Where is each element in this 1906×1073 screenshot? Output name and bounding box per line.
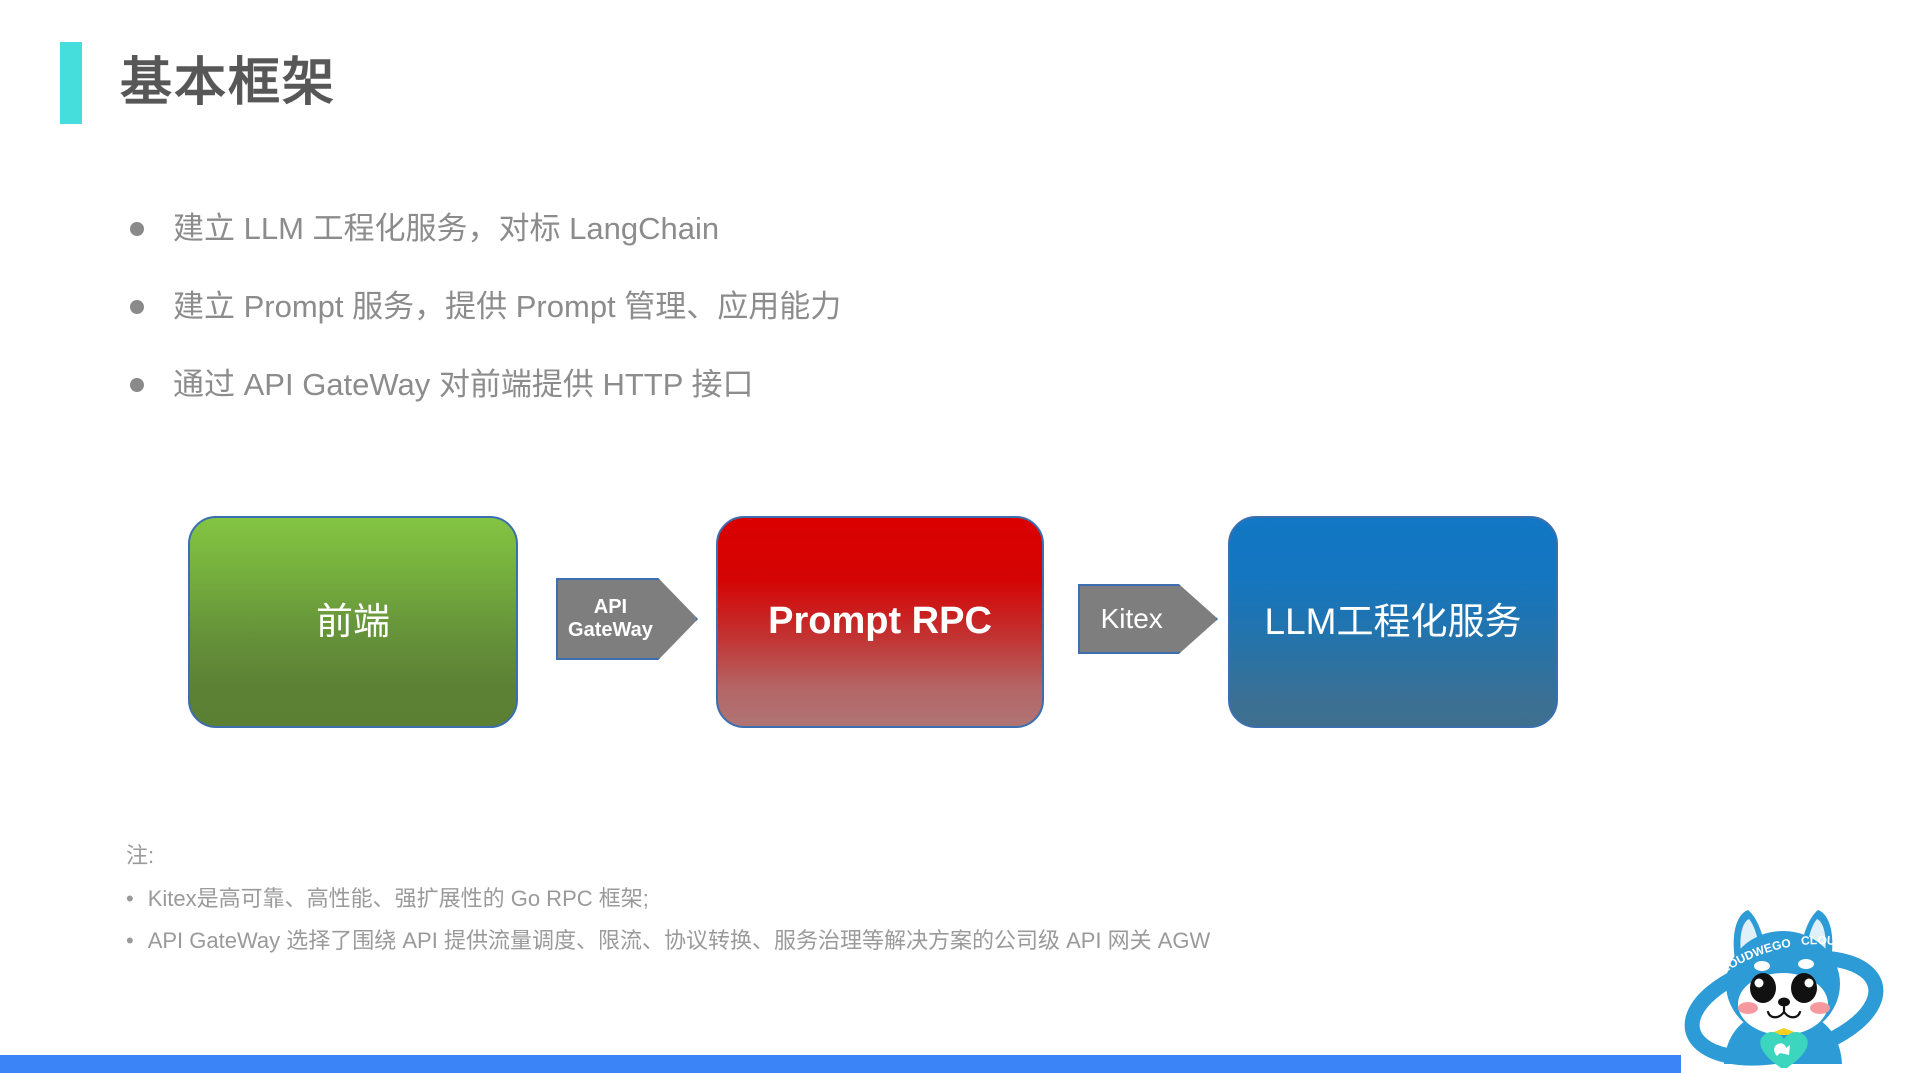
title-accent-bar (60, 42, 82, 124)
note-bullet-icon: • (126, 884, 134, 914)
mascot-eye-left (1750, 973, 1776, 1003)
mascot-nose (1778, 998, 1790, 1007)
mascot-eye-glint-right (1805, 979, 1814, 988)
diagram-node-prompt-rpc: Prompt RPC (716, 516, 1044, 728)
slide: 基本框架 建立 LLM 工程化服务，对标 LangChain 建立 Prompt… (0, 0, 1906, 1073)
arrow-chevron-icon: API GateWay (556, 578, 698, 660)
note-item: • API GateWay 选择了围绕 API 提供流量调度、限流、协议转换、服… (126, 926, 1626, 956)
note-item-label: Kitex是高可靠、高性能、强扩展性的 Go RPC 框架; (148, 884, 649, 914)
bullet-dot-icon (130, 300, 144, 314)
bullet-item-label: 建立 LLM 工程化服务，对标 LangChain (173, 210, 719, 249)
note-item-label: API GateWay 选择了围绕 API 提供流量调度、限流、协议转换、服务治… (148, 926, 1211, 956)
mascot-cheek-right (1810, 1002, 1830, 1014)
diagram-arrow-kitex: Kitex (1078, 584, 1218, 654)
diagram-arrow-kitex-label: Kitex (1101, 603, 1163, 635)
cloudwego-mascot-logo: CLOUDWEGO CLOUDWEGO (1678, 888, 1890, 1068)
cloudwego-mascot-icon: CLOUDWEGO CLOUDWEGO (1678, 888, 1890, 1068)
diagram-node-frontend: 前端 (188, 516, 518, 728)
notes-section: 注: • Kitex是高可靠、高性能、强扩展性的 Go RPC 框架; • AP… (126, 838, 1626, 967)
diagram-node-llm-service: LLM工程化服务 (1228, 516, 1558, 728)
mascot-brow-right (1798, 959, 1814, 969)
notes-heading: 注: (126, 838, 1626, 870)
diagram-node-prompt-rpc-label: Prompt RPC (768, 601, 992, 643)
bullet-list: 建立 LLM 工程化服务，对标 LangChain 建立 Prompt 服务，提… (130, 210, 1530, 443)
diagram-arrow-api-gateway-label: API GateWay (568, 596, 653, 642)
arrow-chevron-icon: Kitex (1078, 584, 1218, 654)
bullet-dot-icon (130, 378, 144, 392)
mascot-brow-left (1754, 961, 1770, 971)
bullet-item-label: 通过 API GateWay 对前端提供 HTTP 接口 (173, 366, 753, 405)
page-title-text: 基本框架 (120, 57, 336, 109)
note-bullet-icon: • (126, 926, 134, 956)
bullet-item: 建立 Prompt 服务，提供 Prompt 管理、应用能力 (130, 288, 1530, 327)
bullet-item-label: 建立 Prompt 服务，提供 Prompt 管理、应用能力 (173, 288, 841, 327)
bullet-dot-icon (130, 222, 144, 236)
diagram-node-frontend-label: 前端 (316, 602, 390, 643)
mascot-eye-glint-left (1755, 979, 1764, 988)
note-item: • Kitex是高可靠、高性能、强扩展性的 Go RPC 框架; (126, 884, 1626, 914)
bullet-item: 建立 LLM 工程化服务，对标 LangChain (130, 210, 1530, 249)
bullet-item: 通过 API GateWay 对前端提供 HTTP 接口 (130, 366, 1530, 405)
page-title: 基本框架 (60, 42, 336, 124)
diagram-arrow-api-gateway: API GateWay (556, 578, 698, 660)
mascot-cheek-left (1738, 1002, 1758, 1014)
footer-accent-bar (0, 1055, 1681, 1073)
diagram-node-llm-service-label: LLM工程化服务 (1265, 602, 1522, 643)
mascot-eye-right (1791, 973, 1817, 1003)
